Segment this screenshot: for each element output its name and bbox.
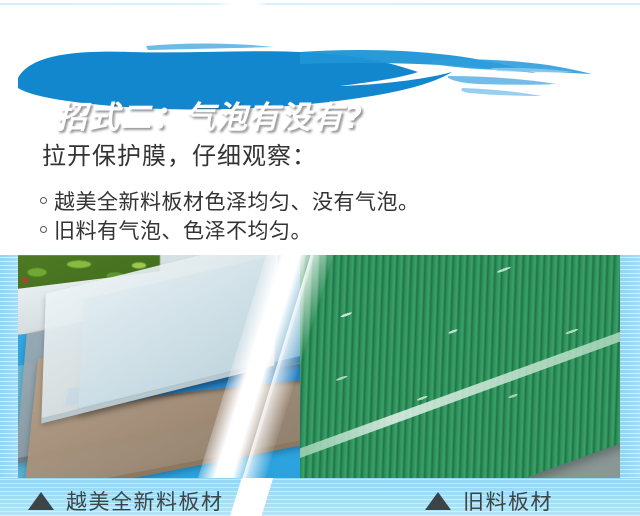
hollow-circle-icon [40, 197, 47, 204]
caption-diagonal-divider [226, 478, 275, 516]
right-photo-old-material [300, 255, 640, 478]
list-item: 越美全新料板材色泽均匀、没有气泡。 [40, 186, 420, 215]
caption-left: 越美全新料板材 [28, 486, 224, 516]
caption-right-label: 旧料板材 [463, 486, 553, 516]
corrugated-streaks [300, 255, 640, 478]
header-banner: 招式二：气泡有没有? [0, 38, 640, 116]
list-item-label: 旧料有气泡、色泽不均匀。 [54, 215, 312, 245]
right-stripe-rail [620, 255, 640, 478]
triangle-marker-icon [425, 492, 451, 510]
triangle-marker-icon [28, 492, 54, 510]
caption-left-label: 越美全新料板材 [66, 486, 224, 516]
bullet-list: 越美全新料板材色泽均匀、没有气泡。 旧料有气泡、色泽不均匀。 [40, 186, 420, 244]
caption-bar: 越美全新料板材 旧料板材 [0, 478, 640, 516]
hollow-circle-icon [40, 226, 47, 233]
green-corrugated-sheet [300, 255, 640, 478]
comparison-photo-strip: 色泽不均 气泡 [0, 255, 640, 478]
top-hairline-divider [0, 3, 640, 5]
lead-instruction: 拉开保护膜，仔细观察： [42, 136, 317, 171]
promo-page: 招式二：气泡有没有? 拉开保护膜，仔细观察： 越美全新料板材色泽均匀、没有气泡。… [0, 0, 640, 516]
list-item-label: 越美全新料板材色泽均匀、没有气泡。 [54, 186, 420, 216]
left-photo-new-material [0, 255, 340, 478]
list-item: 旧料有气泡、色泽不均匀。 [40, 215, 420, 244]
caption-right: 旧料板材 [425, 486, 553, 516]
page-title: 招式二：气泡有没有? [56, 92, 363, 137]
left-stripe-rail [0, 255, 18, 478]
